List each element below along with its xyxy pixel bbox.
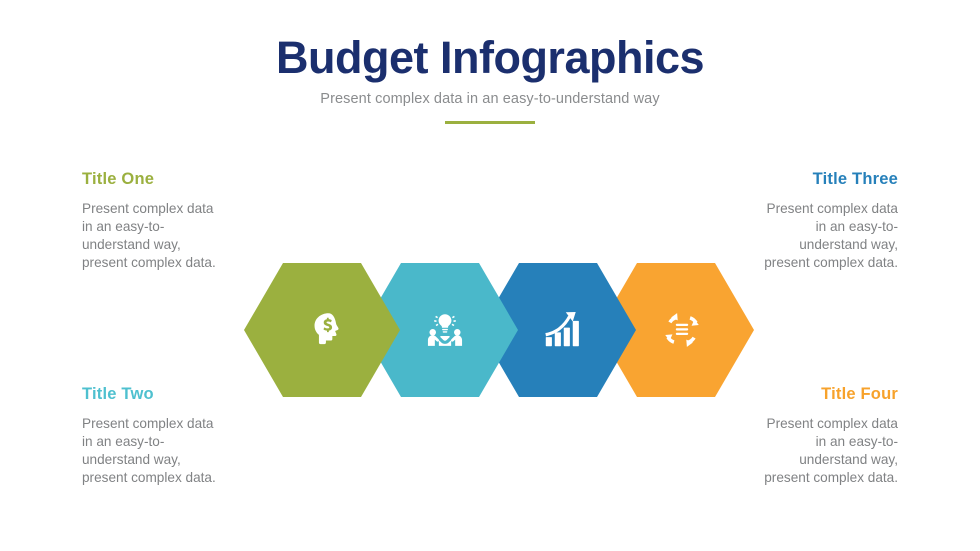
text-block-three-title: Title Three [688, 170, 898, 189]
hexagon-row [244, 263, 736, 397]
page-subtitle: Present complex data in an easy-to-under… [0, 91, 980, 107]
text-block-one-body: Present complex data in an easy-to- unde… [82, 200, 292, 272]
text-block-one: Title One Present complex data in an eas… [82, 170, 292, 272]
head-dollar-icon [244, 263, 400, 397]
text-block-one-title: Title One [82, 170, 292, 189]
hexagon-one[interactable] [244, 263, 400, 397]
text-block-three: Title Three Present complex data in an e… [688, 170, 898, 272]
text-block-three-body: Present complex data in an easy-to- unde… [688, 200, 898, 272]
text-block-two: Title Two Present complex data in an eas… [82, 385, 292, 487]
text-block-two-body: Present complex data in an easy-to- unde… [82, 415, 292, 487]
slide-header: Budget Infographics Present complex data… [0, 34, 980, 124]
text-block-four-body: Present complex data in an easy-to- unde… [688, 415, 898, 487]
infographic-slide: Budget Infographics Present complex data… [0, 0, 980, 551]
title-accent-rule [445, 121, 535, 124]
text-block-four: Title Four Present complex data in an ea… [688, 385, 898, 487]
page-title: Budget Infographics [0, 34, 980, 81]
